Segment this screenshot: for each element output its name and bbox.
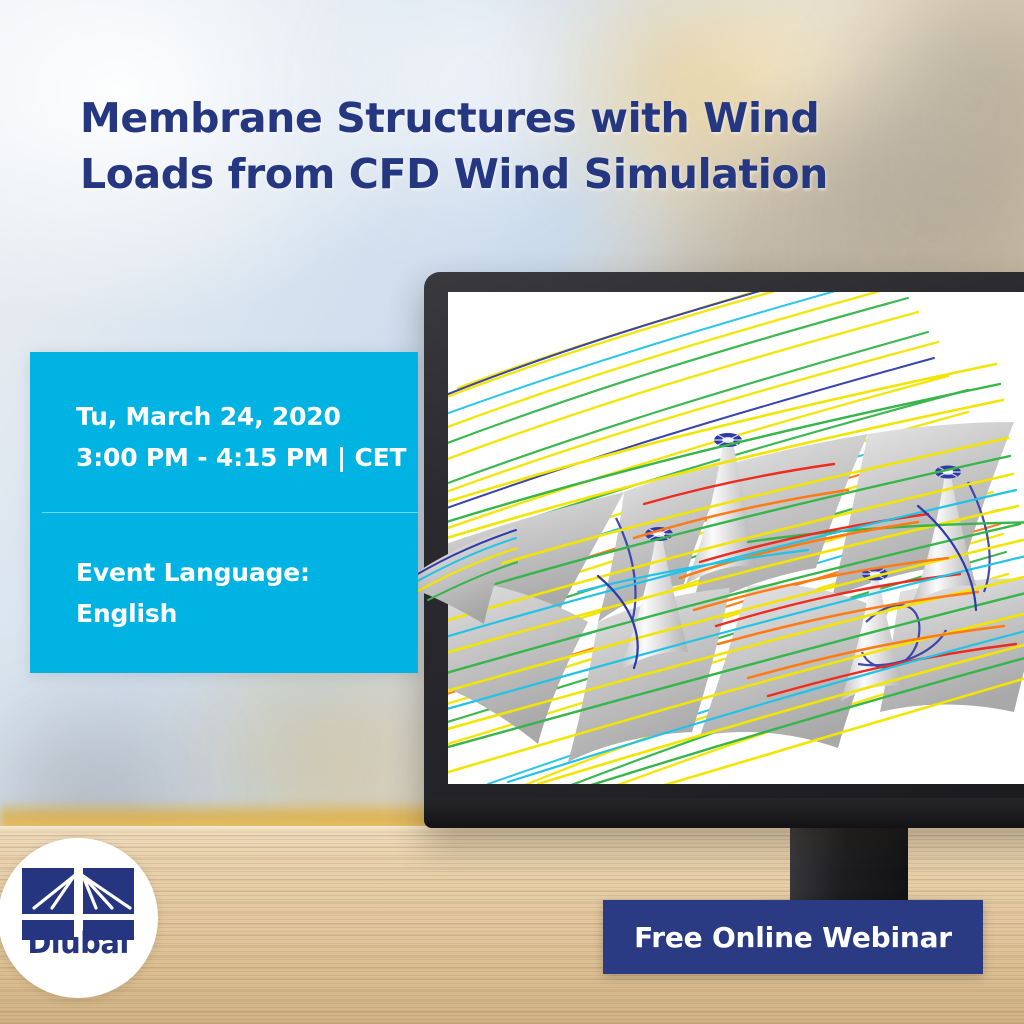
monitor-screen — [448, 292, 1024, 784]
cta-label: Free Online Webinar — [634, 921, 952, 954]
webinar-poster: Membrane Structures with Wind Loads from… — [0, 0, 1024, 1024]
event-datetime: Tu, March 24, 2020 3:00 PM - 4:15 PM | C… — [76, 396, 406, 478]
event-time: 3:00 PM - 4:15 PM | CET — [76, 437, 406, 478]
panel-divider — [42, 512, 418, 513]
event-language-value: English — [76, 593, 310, 634]
free-online-webinar-banner[interactable]: Free Online Webinar — [603, 900, 983, 974]
event-info-panel: Tu, March 24, 2020 3:00 PM - 4:15 PM | C… — [30, 352, 418, 673]
cfd-simulation-graphic — [448, 292, 1024, 784]
dlubal-logo[interactable]: Dlubal — [0, 838, 158, 998]
page-title-line-2: Loads from CFD Wind Simulation — [80, 146, 910, 202]
computer-monitor — [424, 272, 1024, 828]
event-language: Event Language: English — [76, 552, 310, 634]
page-title-line-1: Membrane Structures with Wind — [80, 90, 910, 146]
event-language-label: Event Language: — [76, 552, 310, 593]
event-date: Tu, March 24, 2020 — [76, 396, 406, 437]
monitor-bezel-bottom — [424, 798, 1024, 828]
dlubal-wordmark: Dlubal — [12, 926, 144, 960]
page-title: Membrane Structures with Wind Loads from… — [80, 90, 910, 202]
